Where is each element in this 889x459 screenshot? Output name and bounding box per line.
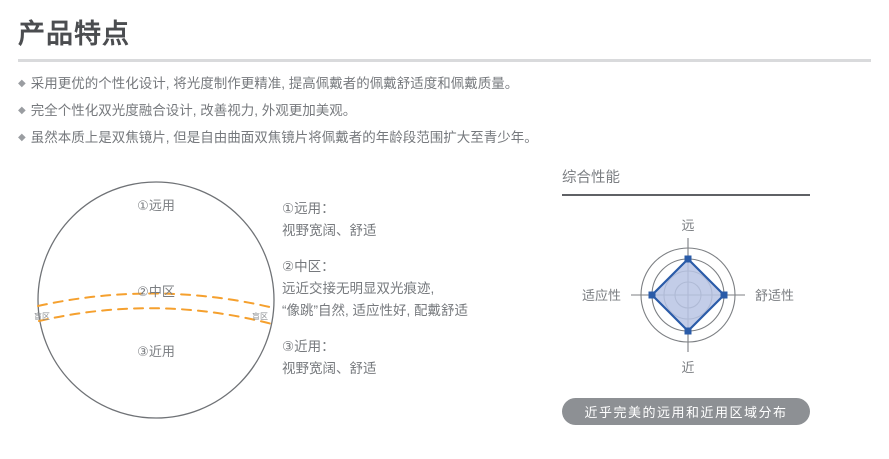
radar-axis-label-comfort: 舒适性 xyxy=(755,288,794,303)
lens-zone-diagram: ①远用 ②中区 ③近用 盲区 盲区 xyxy=(20,168,285,448)
zone-label-far: ①远用 xyxy=(137,198,175,213)
radar-axis-label-far: 远 xyxy=(681,218,694,233)
diamond-bullet-icon: ◆ xyxy=(18,72,26,95)
legend-heading: ③近用： xyxy=(282,336,532,358)
list-item: ◆ 虽然本质上是双焦镜片, 但是自由曲面双焦镜片将佩戴者的年龄段范围扩大至青少年… xyxy=(18,126,878,149)
bullet-text: 完全个性化双光度融合设计, 改善视力, 外观更加美观。 xyxy=(31,99,357,122)
legend-heading: ①远用： xyxy=(282,198,532,220)
diamond-bullet-icon: ◆ xyxy=(18,99,26,122)
zone-label-mid: ②中区 xyxy=(137,284,175,299)
zone-label-near: ③近用 xyxy=(137,344,175,359)
radar-axis-label-near: 近 xyxy=(681,360,694,375)
radar-title-divider xyxy=(562,194,810,196)
product-features-page: 产品特点 ◆ 采用更优的个性化设计, 将光度制作更精准, 提高佩戴者的佩戴舒适度… xyxy=(0,0,889,459)
list-item: ◆ 完全个性化双光度融合设计, 改善视力, 外观更加美观。 xyxy=(18,99,878,122)
blind-zone-curve-lower xyxy=(39,308,272,324)
radar-chart-title: 综合性能 xyxy=(562,168,620,188)
title-divider xyxy=(18,59,871,62)
legend-block-far: ①远用： 视野宽阔、舒适 xyxy=(282,198,532,242)
radar-axis-label-adaptation: 适应性 xyxy=(582,288,621,303)
legend-line: 视野宽阔、舒适 xyxy=(282,220,532,242)
legend-block-near: ③近用： 视野宽阔、舒适 xyxy=(282,336,532,380)
radar-point-near xyxy=(685,328,692,335)
blind-zone-label-right: 盲区 xyxy=(252,311,268,321)
radar-point-far xyxy=(685,256,692,263)
legend-block-mid: ②中区： 远近交接无明显双光痕迹, “像跳”自然, 适应性好, 配戴舒适 xyxy=(282,256,532,322)
blind-zone-label-left: 盲区 xyxy=(34,311,50,321)
page-title: 产品特点 xyxy=(18,17,130,51)
zone-legend-text: ①远用： 视野宽阔、舒适 ②中区： 远近交接无明显双光痕迹, “像跳”自然, 适… xyxy=(282,198,532,394)
legend-heading: ②中区： xyxy=(282,256,532,278)
radar-chart-svg: 远 舒适性 近 适应性 xyxy=(548,200,878,400)
feature-bullet-list: ◆ 采用更优的个性化设计, 将光度制作更精准, 提高佩戴者的佩戴舒适度和佩戴质量… xyxy=(18,72,878,153)
legend-line: “像跳”自然, 适应性好, 配戴舒适 xyxy=(282,300,532,322)
radar-point-adaptation xyxy=(649,292,656,299)
radar-chart-panel: 综合性能 远 舒适性 近 适应性 近乎完美的远用和近用区域分布 xyxy=(548,168,878,438)
list-item: ◆ 采用更优的个性化设计, 将光度制作更精准, 提高佩戴者的佩戴舒适度和佩戴质量… xyxy=(18,72,878,95)
radar-point-comfort xyxy=(721,292,728,299)
legend-line: 远近交接无明显双光痕迹, xyxy=(282,278,532,300)
bullet-text: 采用更优的个性化设计, 将光度制作更精准, 提高佩戴者的佩戴舒适度和佩戴质量。 xyxy=(31,72,519,95)
bullet-text: 虽然本质上是双焦镜片, 但是自由曲面双焦镜片将佩戴者的年龄段范围扩大至青少年。 xyxy=(31,126,538,149)
radar-caption-badge: 近乎完美的远用和近用区域分布 xyxy=(562,398,810,425)
diamond-bullet-icon: ◆ xyxy=(18,126,26,149)
legend-line: 视野宽阔、舒适 xyxy=(282,358,532,380)
